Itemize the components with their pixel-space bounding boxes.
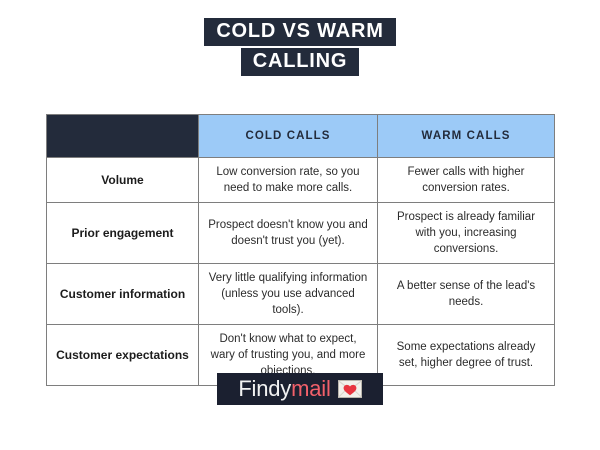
column-header-cold-calls: COLD CALLS — [199, 115, 378, 158]
table-row: Customer information Very little qualify… — [47, 264, 555, 325]
title-line-2-text: CALLING — [241, 48, 359, 76]
row-label-prior-engagement: Prior engagement — [47, 203, 199, 264]
logo-wordmark: Findymail — [238, 378, 330, 400]
comparison-table: COLD CALLS WARM CALLS Volume Low convers… — [46, 114, 555, 386]
page-title: COLD VS WARM CALLING — [0, 18, 600, 78]
logo-text-mail: mail — [291, 376, 331, 401]
cell-warm-prior-engagement: Prospect is already familiar with you, i… — [378, 203, 555, 264]
love-letter-envelope-icon — [338, 380, 362, 398]
cell-warm-customer-information: A better sense of the lead's needs. — [378, 264, 555, 325]
row-label-customer-expectations: Customer expectations — [47, 325, 199, 386]
findymail-logo[interactable]: Findymail — [217, 373, 383, 405]
infographic-page: COLD VS WARM CALLING COLD CALLS WARM CAL… — [0, 0, 600, 450]
cell-warm-volume: Fewer calls with higher conversion rates… — [378, 158, 555, 203]
table-corner-cell — [47, 115, 199, 158]
cell-cold-prior-engagement: Prospect doesn't know you and doesn't tr… — [199, 203, 378, 264]
title-line-1-text: COLD VS WARM — [204, 18, 395, 46]
cell-warm-customer-expectations: Some expectations already set, higher de… — [378, 325, 555, 386]
title-line-1: COLD VS WARM — [0, 18, 600, 46]
logo-text-findy: Findy — [238, 376, 291, 401]
cell-cold-customer-information: Very little qualifying information (unle… — [199, 264, 378, 325]
table-row: Prior engagement Prospect doesn't know y… — [47, 203, 555, 264]
cell-cold-volume: Low conversion rate, so you need to make… — [199, 158, 378, 203]
table-header-row: COLD CALLS WARM CALLS — [47, 115, 555, 158]
row-label-customer-information: Customer information — [47, 264, 199, 325]
table-row: Volume Low conversion rate, so you need … — [47, 158, 555, 203]
table-header: COLD CALLS WARM CALLS — [47, 115, 555, 158]
column-header-warm-calls: WARM CALLS — [378, 115, 555, 158]
row-label-volume: Volume — [47, 158, 199, 203]
title-line-2: CALLING — [0, 48, 600, 76]
table-body: Volume Low conversion rate, so you need … — [47, 158, 555, 386]
